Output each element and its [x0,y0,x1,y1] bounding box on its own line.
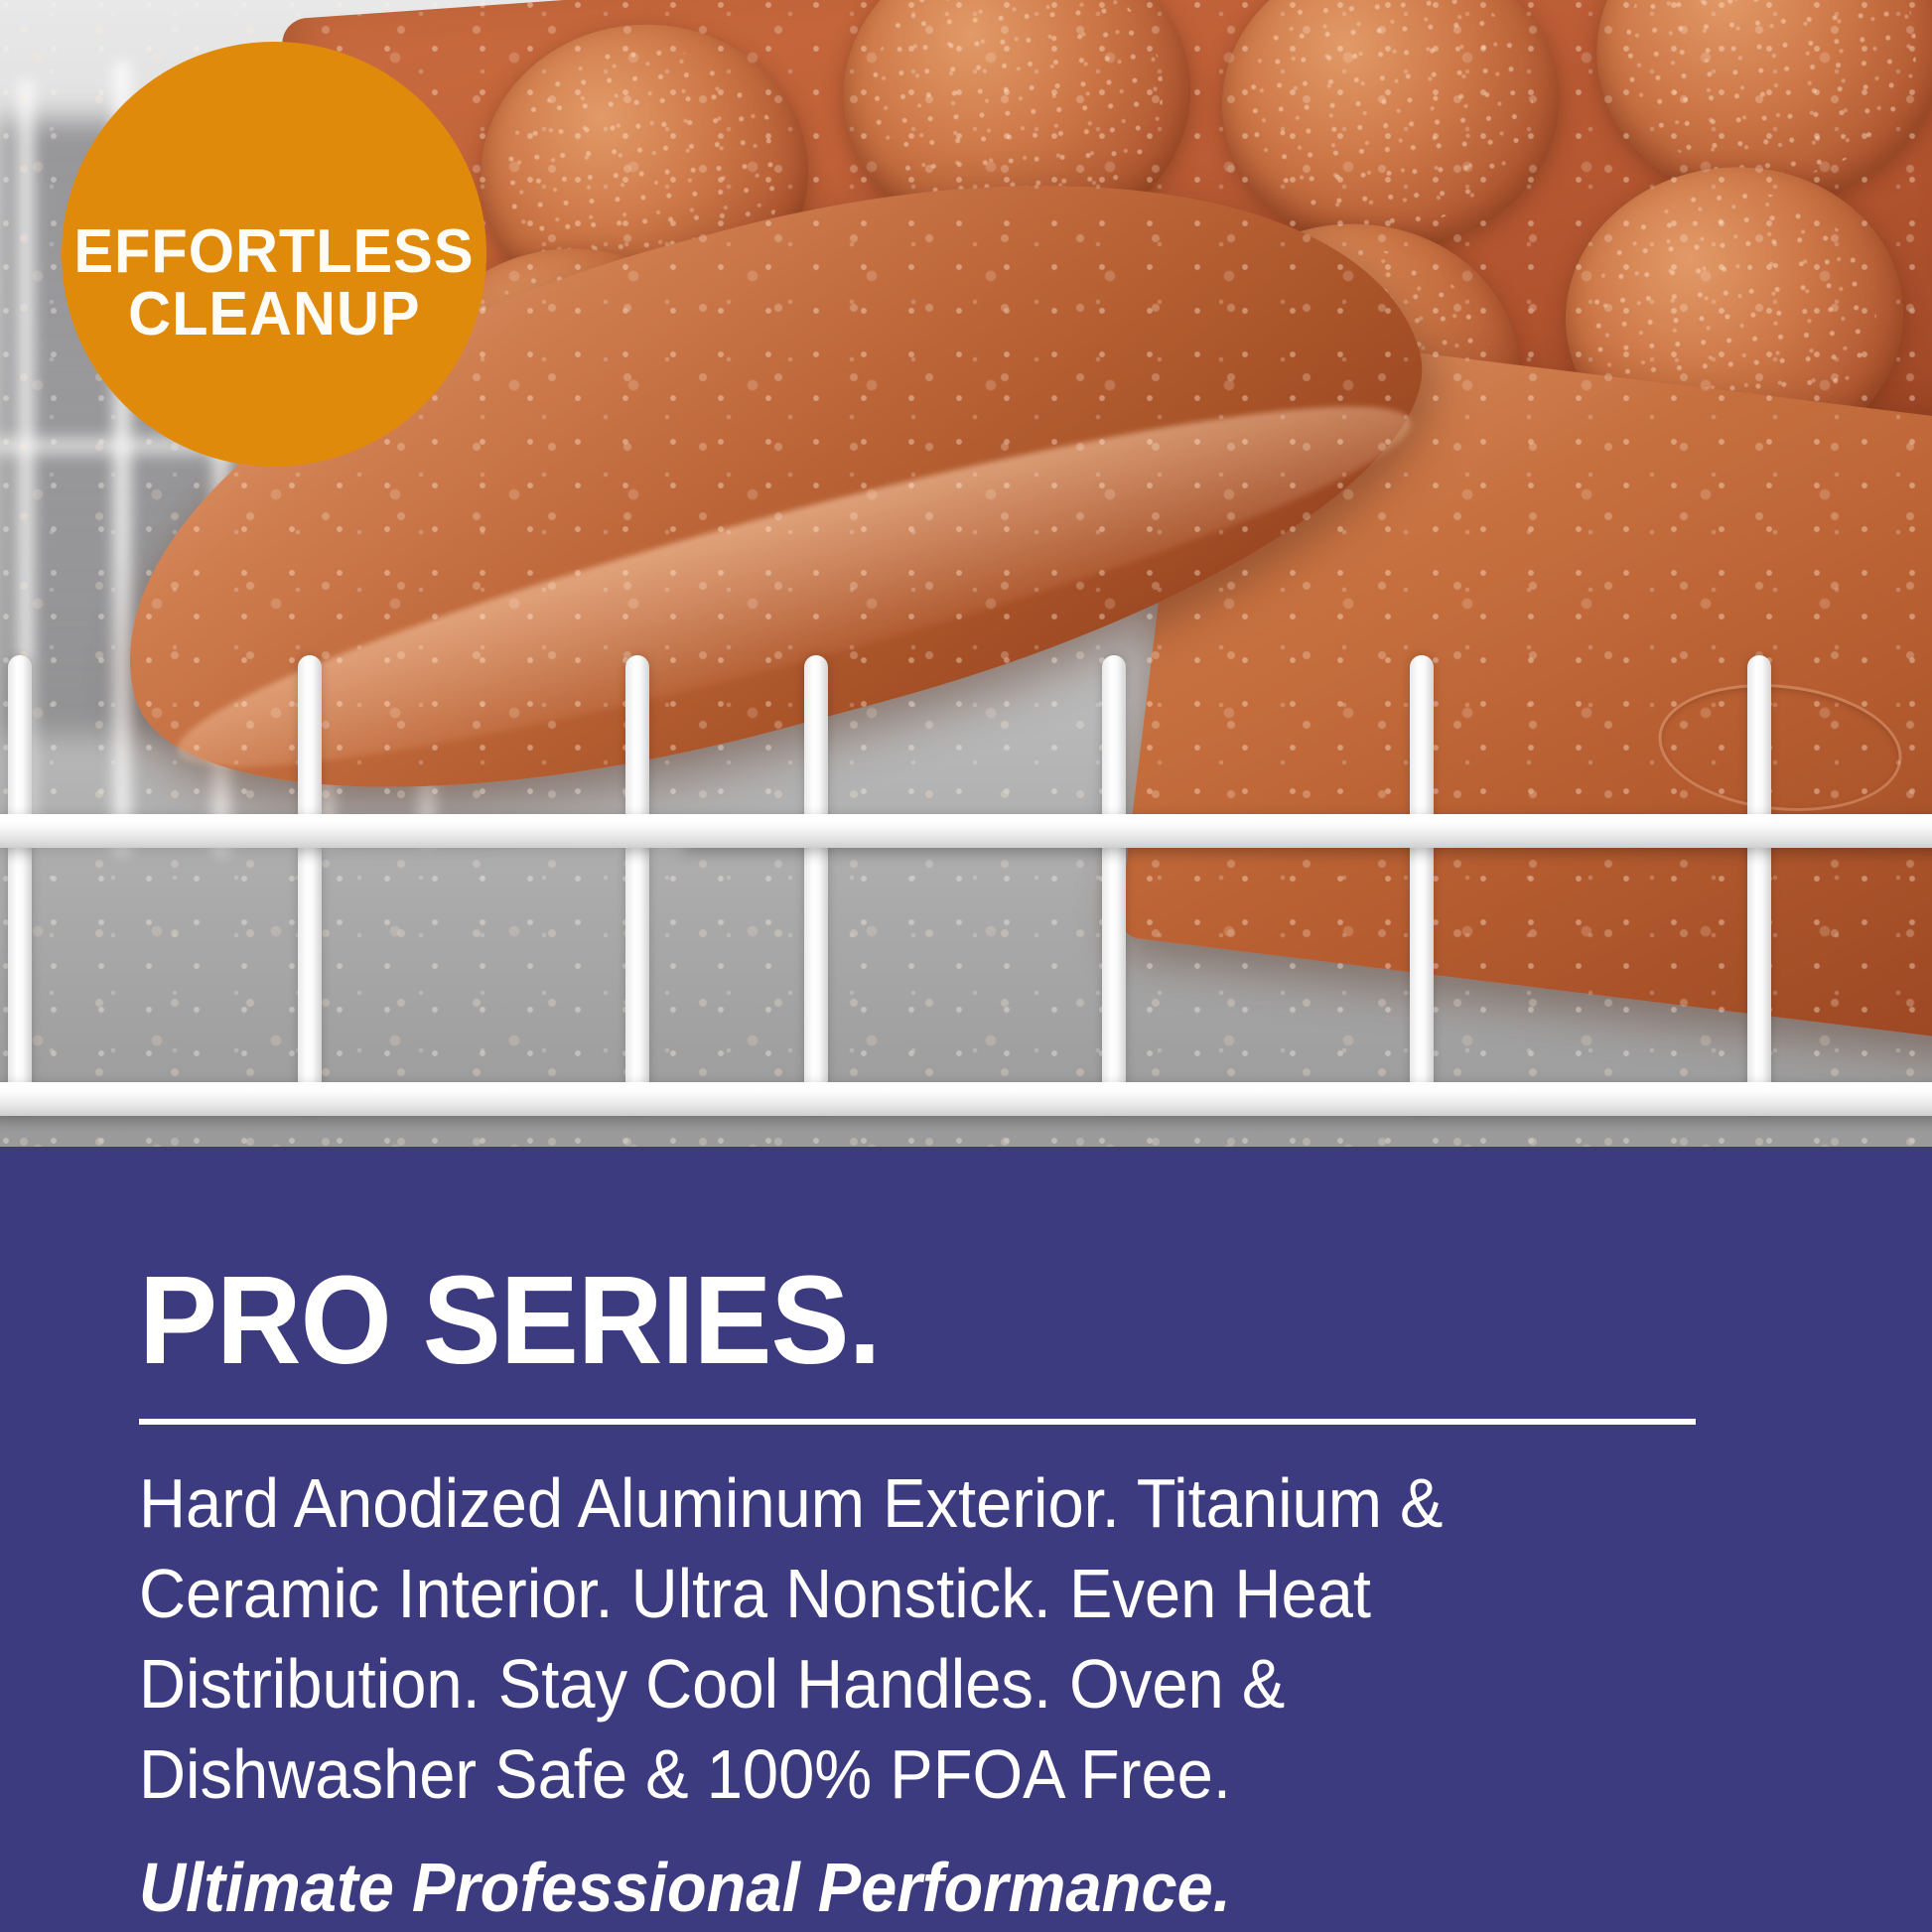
rack-post [625,655,649,1112]
page-title: PRO SERIES. [139,1258,1707,1383]
rack-post [1102,655,1126,1112]
feature-description: Hard Anodized Aluminum Exterior. Titaniu… [139,1458,1635,1820]
tagline: Ultimate Professional Performance. [139,1850,1690,1926]
rack-post [8,655,32,1112]
effortless-cleanup-badge: EFFORTLESS CLEANUP [62,42,486,467]
badge-line-2: CLEANUP [128,283,420,345]
rack-post [1747,655,1771,1112]
rack-post [804,655,828,1112]
rack-crossbar [0,1082,1932,1116]
info-panel: PRO SERIES. Hard Anodized Aluminum Exter… [0,1147,1932,1932]
info-panel-content: PRO SERIES. Hard Anodized Aluminum Exter… [139,1147,1807,1926]
product-marketing-banner: EFFORTLESS CLEANUP PRO SERIES. Hard Anod… [0,0,1932,1932]
rack-post [298,655,322,1112]
rack-post [1410,655,1434,1112]
divider [139,1419,1696,1425]
rack-crossbar [0,814,1932,848]
badge-line-1: EFFORTLESS [73,220,474,283]
product-photo: EFFORTLESS CLEANUP [0,0,1932,1147]
